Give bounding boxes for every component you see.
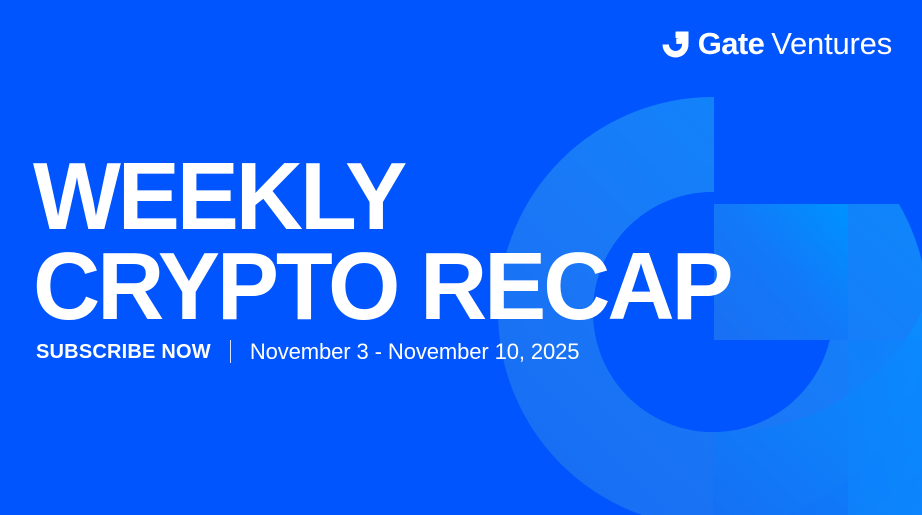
- date-range-label: November 3 - November 10, 2025: [250, 341, 580, 363]
- headline-line-1: WEEKLY: [33, 158, 730, 237]
- meta-divider: [230, 340, 231, 363]
- brand-lockup: Gate Ventures: [662, 28, 892, 59]
- brand-name: Gate: [698, 28, 765, 59]
- brand-suffix: Ventures: [771, 28, 892, 59]
- g-lower-wedge: [713, 312, 922, 515]
- g-corner-tint: [848, 340, 922, 515]
- subscribe-now-label[interactable]: SUBSCRIBE NOW: [36, 342, 211, 362]
- headline-line-2: CRYPTO RECAP: [33, 248, 730, 327]
- weekly-crypto-recap-banner: Gate Ventures WEEKLY CRYPTO RECAP SUBSCR…: [0, 0, 922, 515]
- g-bottom-sliver: [560, 470, 922, 515]
- headline-block: WEEKLY CRYPTO RECAP: [33, 158, 752, 326]
- meta-row: SUBSCRIBE NOW November 3 - November 10, …: [36, 340, 579, 363]
- gate-g-logo-icon: [662, 31, 689, 58]
